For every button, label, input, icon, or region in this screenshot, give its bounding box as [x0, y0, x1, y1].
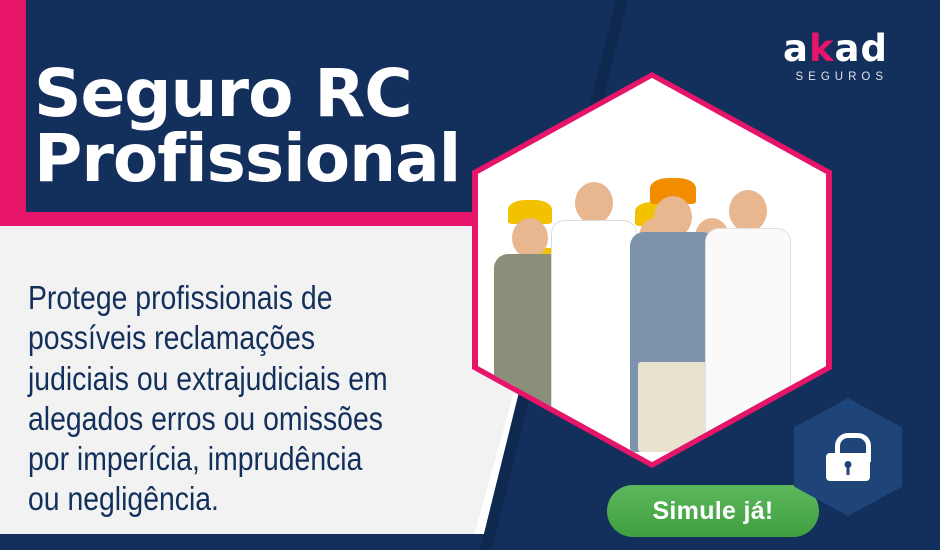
hexagon-photo-mask	[478, 78, 826, 462]
security-badge	[794, 398, 902, 516]
person-figure	[630, 152, 716, 452]
hexagon-photo-frame	[472, 72, 832, 468]
pink-left-accent	[0, 0, 26, 212]
logo-subtitle: SEGUROS	[783, 71, 888, 83]
akad-logo: akad SEGUROS	[783, 30, 888, 83]
person-figure	[706, 156, 790, 452]
logo-text-accent: k	[809, 27, 835, 70]
body-copy: Protege profissionais de possíveis recla…	[28, 278, 398, 520]
simulate-button[interactable]: Simule já!	[607, 485, 819, 537]
padlock-icon	[826, 433, 870, 481]
logo-wordmark: akad	[783, 30, 888, 67]
logo-text-before: a	[783, 27, 809, 70]
insurance-banner: Seguro RC Profissional Protege profissio…	[0, 0, 940, 550]
professionals-group-photo	[478, 78, 826, 462]
logo-text-after: ad	[835, 27, 888, 70]
person-figure	[552, 152, 636, 452]
